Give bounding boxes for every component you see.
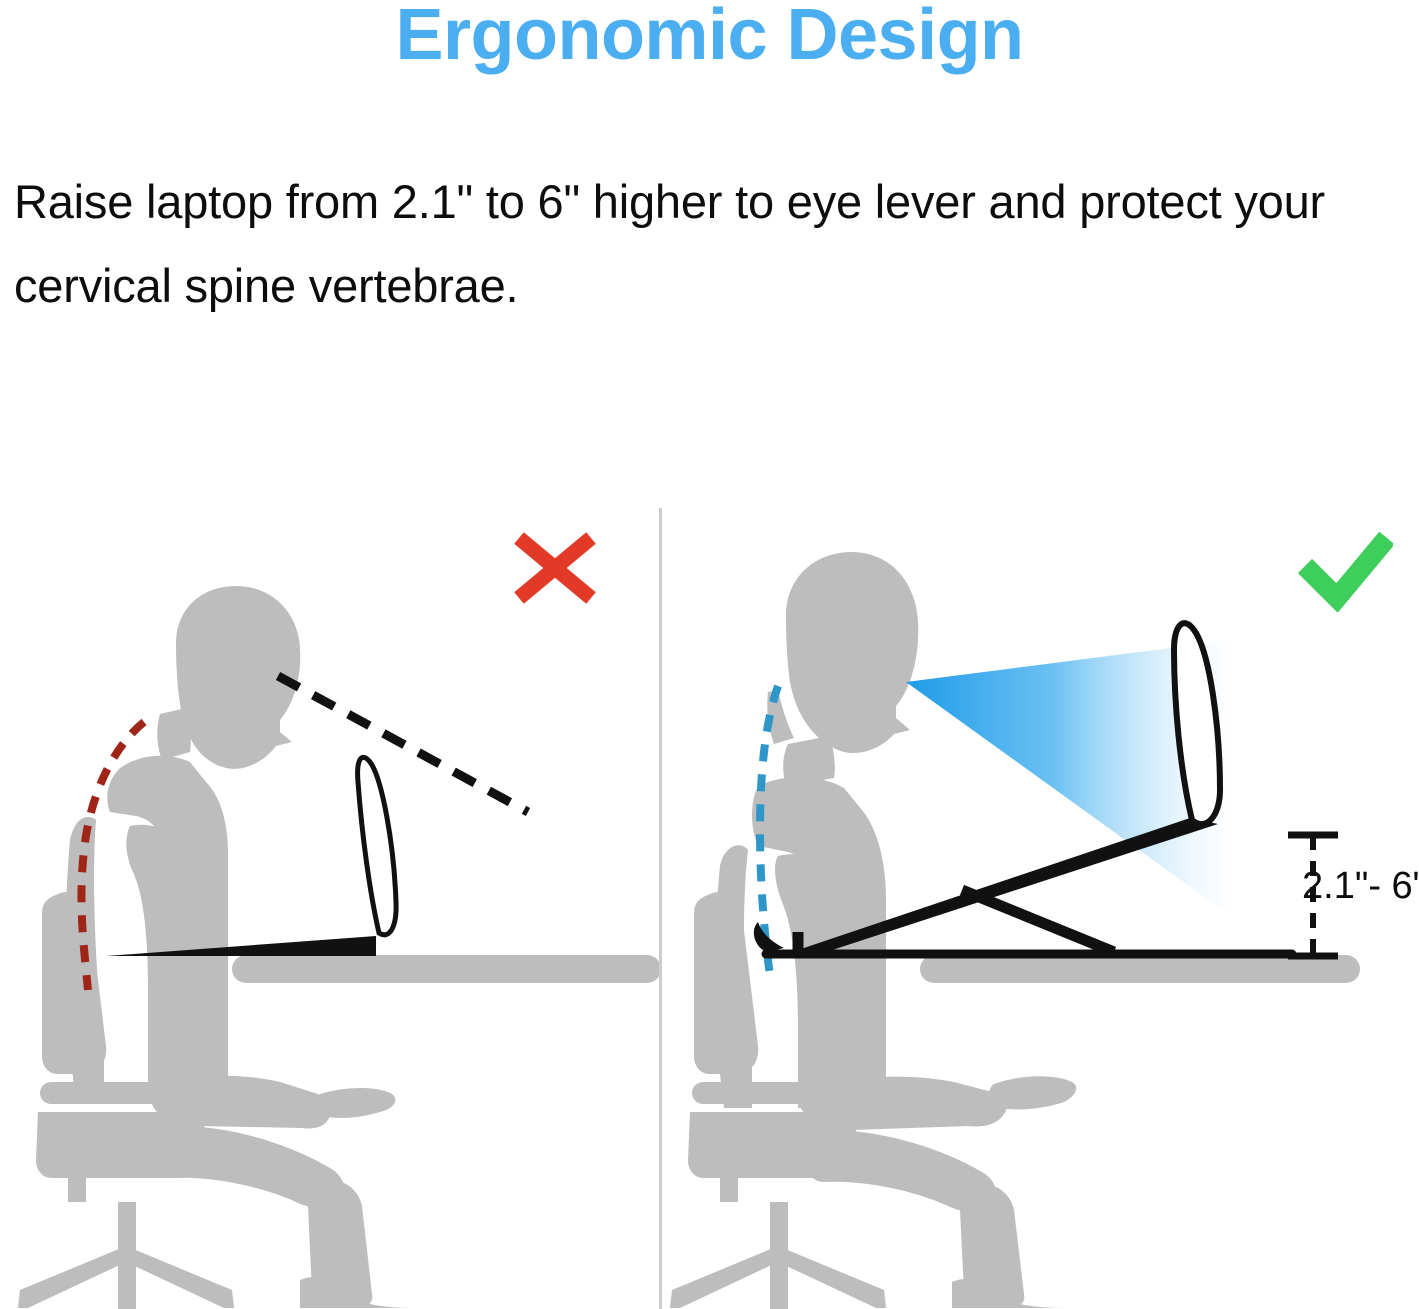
page-title: Ergonomic Design — [0, 0, 1419, 74]
sightline-downward — [278, 676, 528, 812]
desk-top-bad — [232, 955, 659, 983]
page-subtitle: Raise laptop from 2.1" to 6" higher to e… — [14, 160, 1404, 327]
person-silhouette-upright — [715, 552, 1076, 1308]
infographic-page: Ergonomic Design Raise laptop from 2.1" … — [0, 0, 1419, 1309]
height-range-label: 2.1"- 6" — [1302, 865, 1419, 908]
panel-bad-posture — [0, 490, 659, 1309]
